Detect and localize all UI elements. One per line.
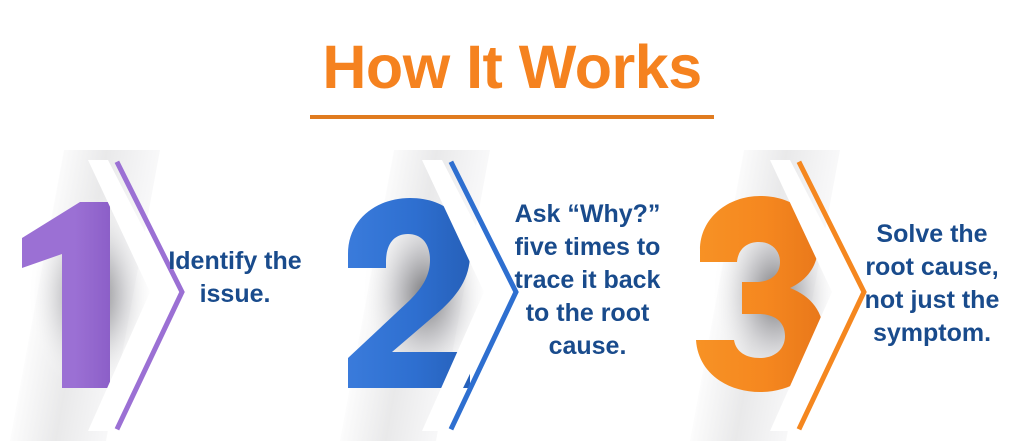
steps-row: Identify the issue.: [0, 150, 1024, 441]
step-1-caption-line-1: Identify the: [140, 245, 330, 278]
step-3-caption: Solve the root cause, not just the sympt…: [840, 218, 1024, 350]
step-2-caption-line-1: Ask “Why?”: [495, 198, 680, 231]
step-3-caption-line-3: not just the: [840, 284, 1024, 317]
page-title-block: How It Works: [0, 32, 1024, 119]
step-item-2: Ask “Why?” five times to trace it back t…: [330, 150, 680, 441]
step-2-caption-line-3: trace it back: [495, 264, 680, 297]
title-underline-rule: [310, 115, 714, 119]
step-2-caption-line-2: five times to: [495, 231, 680, 264]
step-item-3: Solve the root cause, not just the sympt…: [680, 150, 1024, 441]
step-1-caption: Identify the issue.: [140, 245, 330, 311]
step-3-caption-line-1: Solve the: [840, 218, 1024, 251]
step-1-caption-line-2: issue.: [140, 278, 330, 311]
how-it-works-infographic: How It Works: [0, 0, 1024, 441]
step-2-caption-line-4: to the root: [495, 297, 680, 330]
step-item-1: Identify the issue.: [0, 150, 330, 441]
step-2-caption-line-5: cause.: [495, 330, 680, 363]
step-3-caption-line-2: root cause,: [840, 251, 1024, 284]
page-title: How It Works: [0, 32, 1024, 102]
step-2-caption: Ask “Why?” five times to trace it back t…: [495, 198, 680, 363]
step-3-caption-line-4: symptom.: [840, 317, 1024, 350]
